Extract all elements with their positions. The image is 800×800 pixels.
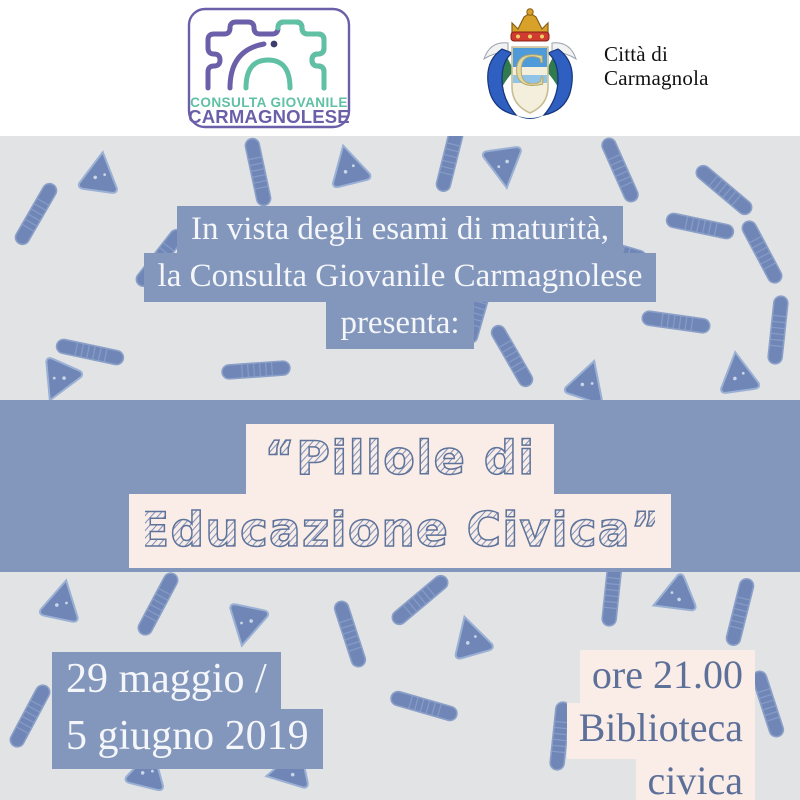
intro-row: presenta: (0, 300, 800, 349)
date-line-1: 29 maggio / (52, 652, 281, 712)
intro-text-block: In vista degli esami di maturità, la Con… (0, 206, 800, 349)
crest-shield-letter: C (515, 44, 546, 95)
title-line-2-art: Educazione Civica” (145, 500, 655, 558)
date-row: 5 giugno 2019 (52, 709, 323, 769)
intro-row: In vista degli esami di maturità, (0, 206, 800, 255)
title-row: “Pillole di (0, 424, 800, 496)
title-row: Educazione Civica” (0, 494, 800, 568)
intro-line-1: In vista degli esami di maturità, (177, 206, 623, 255)
coat-of-arms-icon: C (468, 3, 592, 131)
intro-row: la Consulta Giovanile Carmagnolese (0, 253, 800, 302)
venue-block: ore 21.00 Biblioteca civica (505, 650, 755, 800)
poster-canvas: CONSULTA GIOVANILE CARMAGNOLESE (0, 0, 800, 800)
venue-row: ore 21.00 (505, 650, 755, 706)
logo-line2-text: CARMAGNOLESE (188, 106, 350, 127)
venue-row: Biblioteca (505, 703, 755, 759)
date-block: 29 maggio / 5 giugno 2019 (52, 652, 323, 769)
date-row: 29 maggio / (52, 652, 323, 712)
citta-di-carmagnola-block: C Città di Carmagnola (468, 2, 709, 132)
date-line-2: 5 giugno 2019 (52, 709, 323, 769)
title-line-2-text: Educazione Civica” (145, 503, 655, 558)
title-line-1-art: “Pillole di (262, 430, 538, 486)
venue-line-1: ore 21.00 (580, 650, 755, 706)
intro-line-2: la Consulta Giovanile Carmagnolese (144, 253, 657, 302)
header-bar: CONSULTA GIOVANILE CARMAGNOLESE (0, 0, 800, 136)
consulta-giovanile-logo: CONSULTA GIOVANILE CARMAGNOLESE (186, 6, 352, 130)
intro-line-3: presenta: (326, 300, 473, 349)
venue-row: civica (505, 756, 755, 800)
title-line-2-box: Educazione Civica” (129, 494, 671, 568)
main-title-block: “Pillole di Educazione Civica” (0, 424, 800, 568)
venue-line-2: Biblioteca (567, 703, 755, 759)
title-line-1-box: “Pillole di (246, 424, 554, 496)
venue-line-3: civica (636, 756, 756, 800)
title-line-1-text: “Pillole di (264, 431, 535, 485)
crest-caption-text: Città di Carmagnola (604, 43, 709, 90)
